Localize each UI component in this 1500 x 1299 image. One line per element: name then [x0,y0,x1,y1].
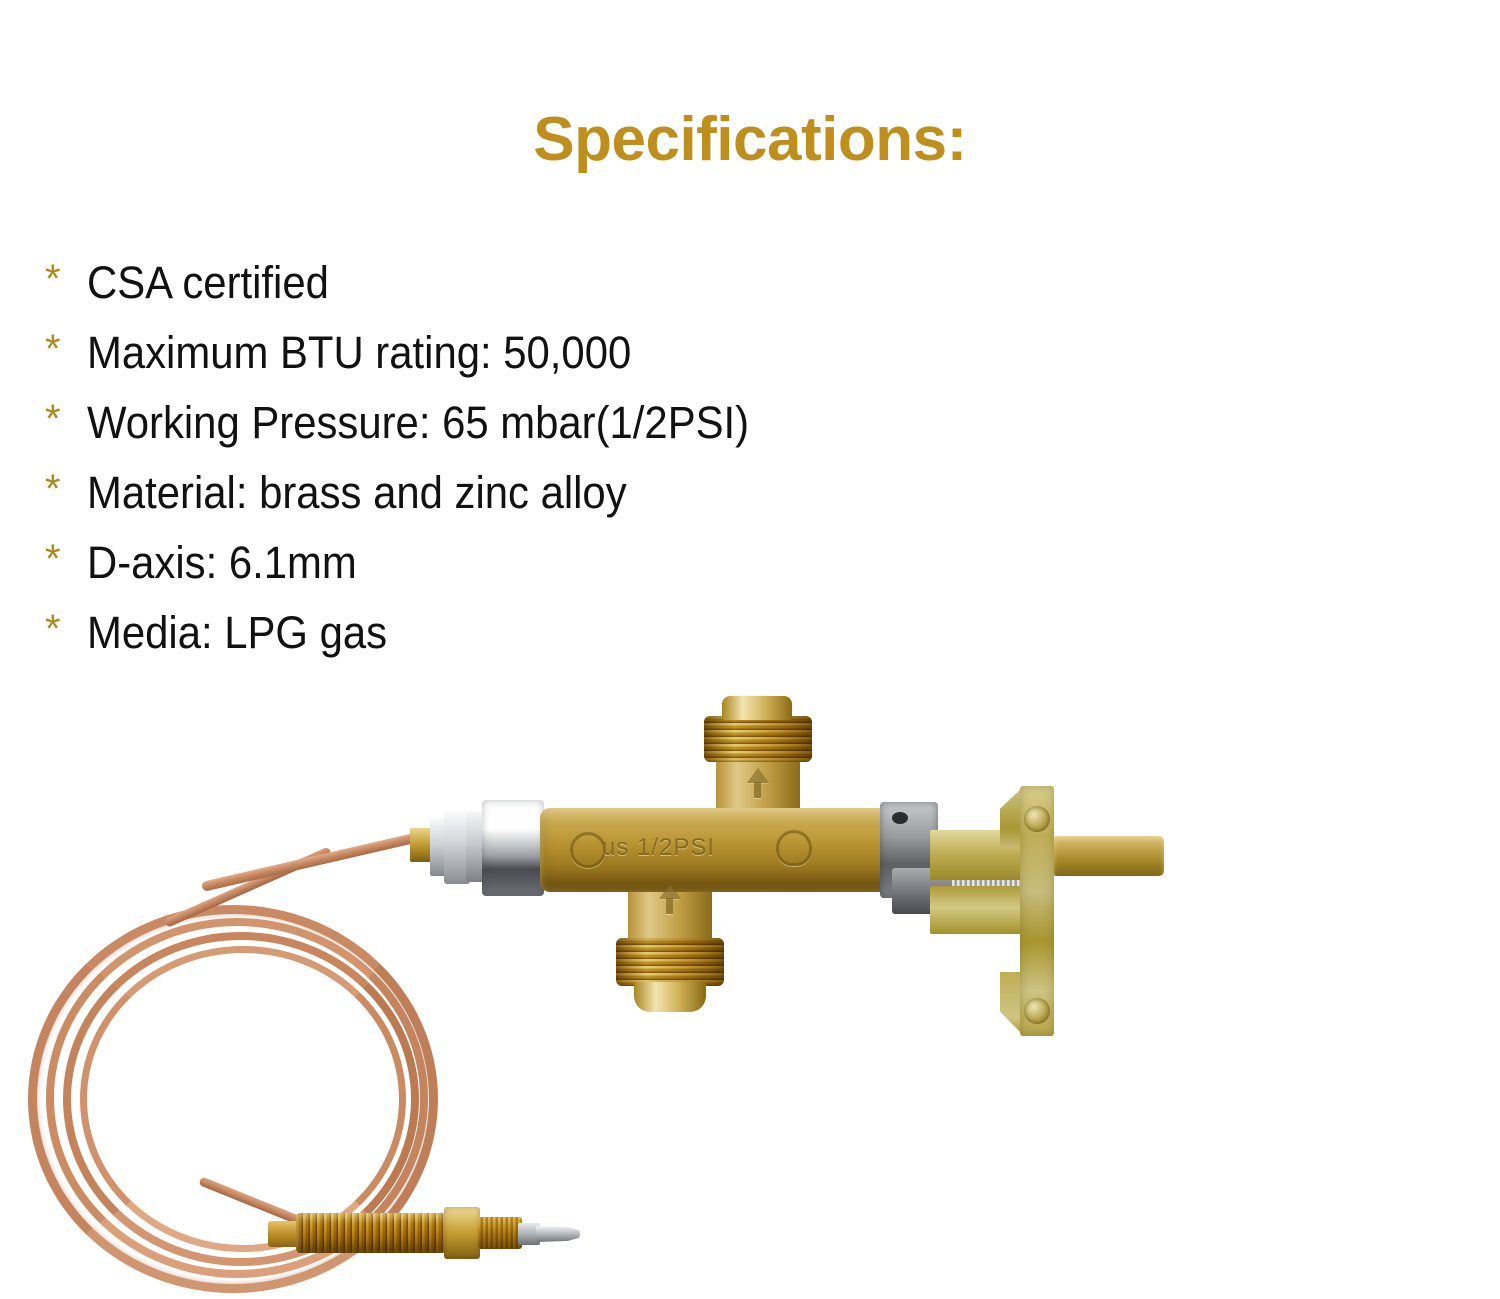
valve-inlet-thread [704,716,812,762]
spec-item-label: Maximum BTU rating: 50,000 [87,318,631,388]
mounting-bracket-arm [930,886,1026,934]
valve-stamped-text: us 1/2PSI [602,834,715,862]
bullet-asterisk-icon: * [45,388,87,450]
spec-item-label: Material: brass and zinc alloy [87,458,627,528]
list-item: * Maximum BTU rating: 50,000 [45,318,1045,388]
flow-direction-arrow-icon [754,782,761,798]
csa-logo-icon [570,832,606,868]
spec-item-label: CSA certified [87,248,329,318]
page-title: Specifications: [0,104,1500,175]
bullet-asterisk-icon: * [45,458,87,520]
bracket-screw-icon [1024,998,1050,1024]
flow-direction-arrow-icon [666,898,673,914]
bullet-asterisk-icon: * [45,598,87,660]
probe-threaded-body [478,1217,522,1249]
probe-sensor-tip [536,1226,580,1242]
valve-collar-port [892,812,908,824]
product-spec-page: Specifications: * CSA certified * Maximu… [0,0,1500,1299]
list-item: * Working Pressure: 65 mbar(1/2PSI) [45,388,1045,458]
valve-inlet-flare [722,696,792,720]
csa-logo-icon [776,830,812,866]
valve-outlet-flare [634,982,706,1012]
valve-d-shaft [1054,836,1164,876]
list-item: * Material: brass and zinc alloy [45,458,1045,528]
spec-item-label: Working Pressure: 65 mbar(1/2PSI) [87,388,749,458]
valve-brass-body: us 1/2PSI [540,808,900,892]
bullet-asterisk-icon: * [45,248,87,310]
specifications-list: * CSA certified * Maximum BTU rating: 50… [45,248,1045,668]
bracket-screw-icon [1024,806,1050,832]
thermocouple-probe [268,1205,578,1261]
bullet-asterisk-icon: * [45,528,87,590]
probe-hex-nut [444,1207,480,1259]
bullet-asterisk-icon: * [45,318,87,380]
valve-outlet-thread [616,938,724,986]
product-photo: us 1/2PSI [0,660,1500,1299]
spec-item-label: D-axis: 6.1mm [87,528,357,598]
fitting-brass-nut [410,828,432,862]
list-item: * Media: LPG gas [45,598,1045,668]
flow-direction-arrow-icon [747,768,769,783]
thermocouple-lead [201,828,437,892]
list-item: * CSA certified [45,248,1045,318]
fitting-hex-nut [482,800,544,896]
spec-item-label: Media: LPG gas [87,598,387,668]
flow-direction-arrow-icon [659,884,681,899]
list-item: * D-axis: 6.1mm [45,528,1045,598]
probe-threaded-body [296,1213,446,1253]
